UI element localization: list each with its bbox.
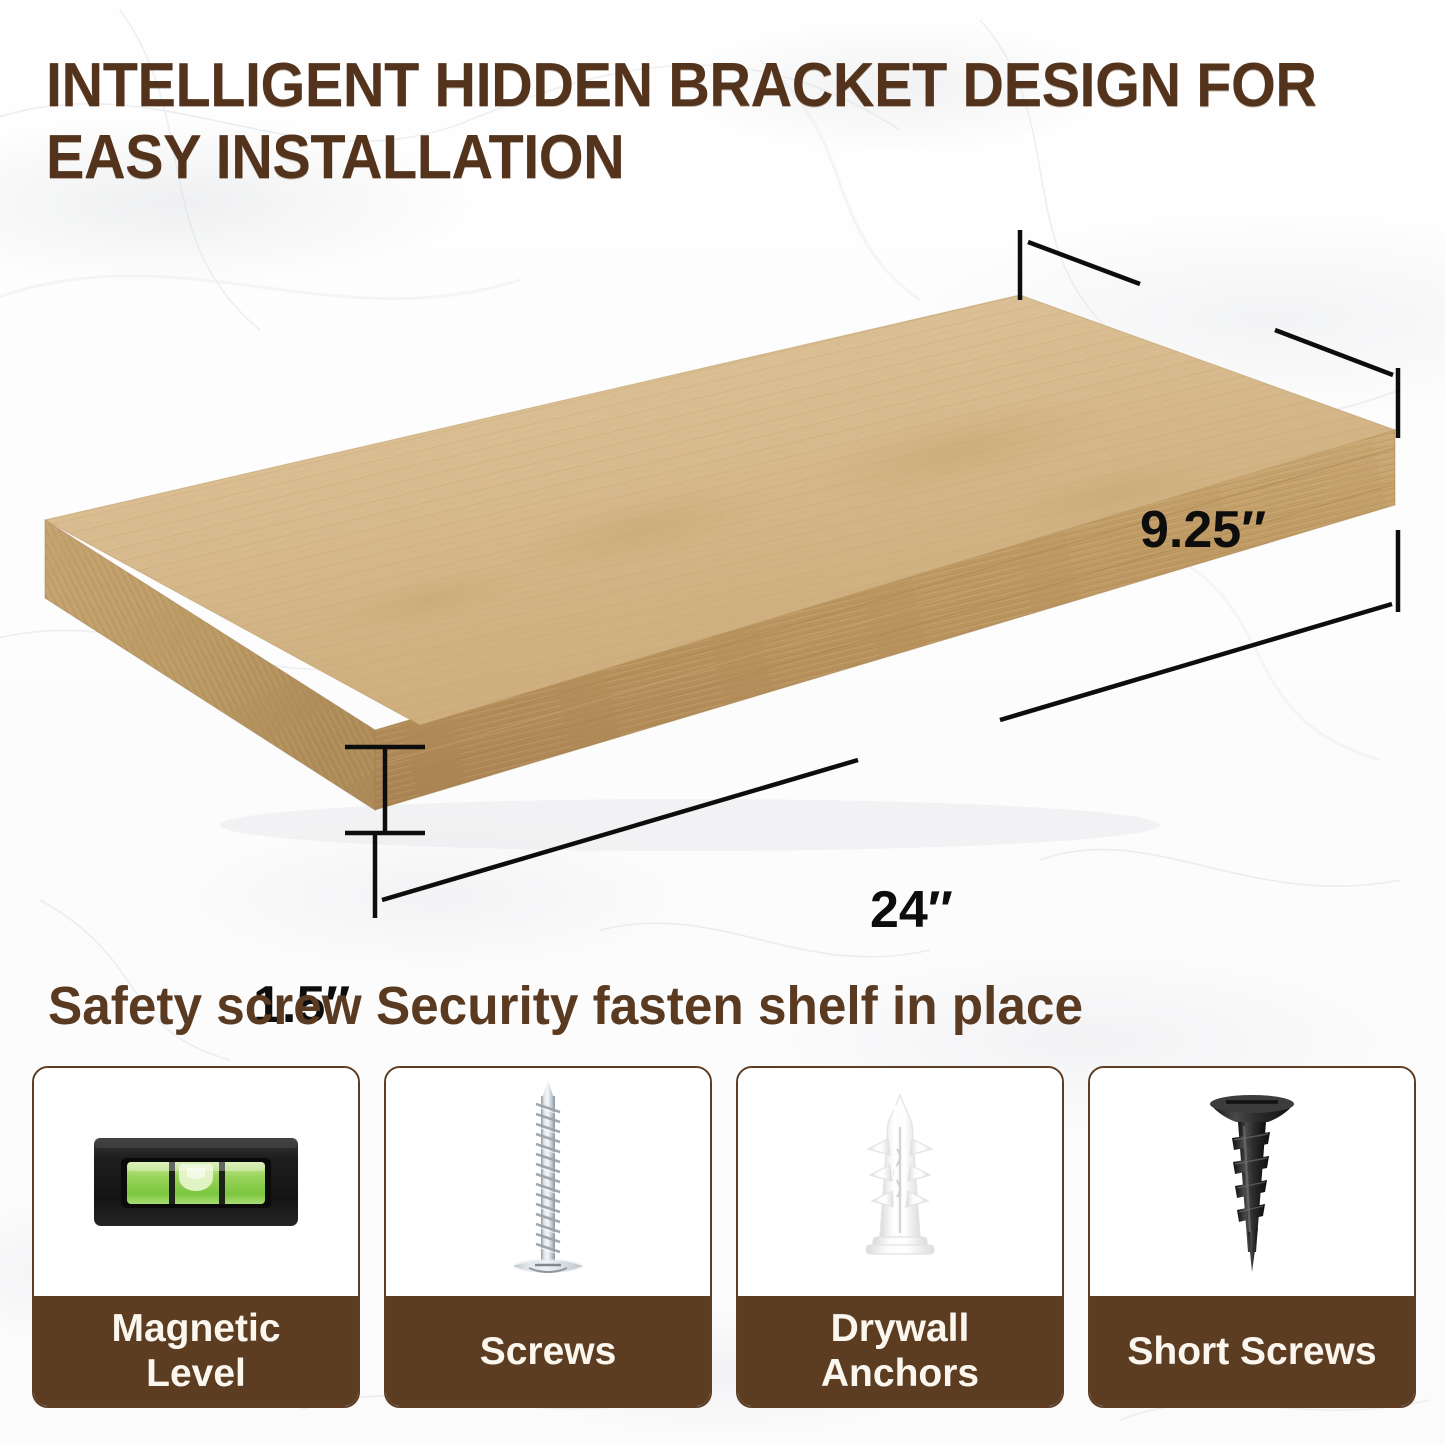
card-label-drywall-anchors: Drywall Anchors xyxy=(738,1296,1062,1406)
card-label-magnetic-level: Magnetic Level xyxy=(34,1296,358,1406)
card-image-area xyxy=(34,1068,358,1296)
bubble-level-icon xyxy=(91,1128,301,1236)
black-short-screw-icon xyxy=(1192,1082,1312,1282)
product-illustration: 9.25″ 24″ 1.5″ xyxy=(0,200,1445,920)
hardware-card-short-screws[interactable]: Short Screws xyxy=(1088,1066,1416,1408)
card-image-area xyxy=(386,1068,710,1296)
dimension-label-depth: 9.25″ xyxy=(1140,500,1266,560)
hardware-card-list: Magnetic Level xyxy=(32,1066,1416,1408)
shelf-shadow xyxy=(220,799,1160,851)
page-headline: INTELLIGENT HIDDEN BRACKET DESIGN FOR EA… xyxy=(46,50,1320,194)
shelf-diagram-svg xyxy=(0,200,1445,920)
card-image-area xyxy=(1090,1068,1414,1296)
hardware-card-magnetic-level[interactable]: Magnetic Level xyxy=(32,1066,360,1408)
hardware-card-drywall-anchors[interactable]: Drywall Anchors xyxy=(736,1066,1064,1408)
dimension-label-width: 24″ xyxy=(870,880,953,940)
card-label-short-screws: Short Screws xyxy=(1090,1296,1414,1406)
hardware-card-screws[interactable]: Screws xyxy=(384,1066,712,1408)
card-label-screws: Screws xyxy=(386,1296,710,1406)
card-image-area xyxy=(738,1068,1062,1296)
section-subheading: Safety screw Security fasten shelf in pl… xyxy=(48,975,1321,1037)
drywall-anchor-icon xyxy=(840,1087,960,1277)
long-screw-icon xyxy=(505,1078,591,1286)
